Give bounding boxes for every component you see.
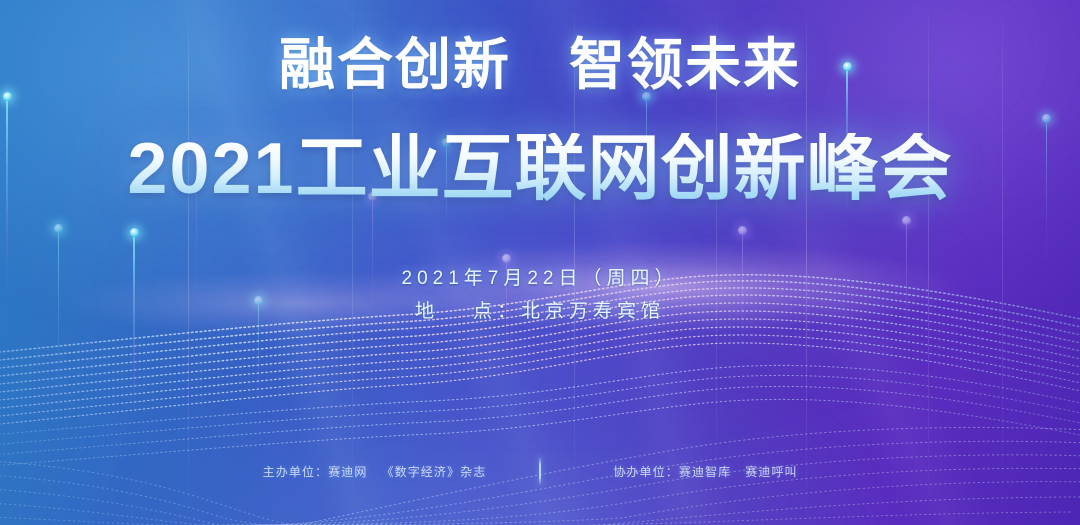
tagline: 融合创新智领未来 bbox=[0, 36, 1080, 96]
venue-label-first: 地 bbox=[415, 301, 439, 322]
organizer-first: 赛迪网 bbox=[328, 465, 367, 479]
cohost-credit: 协办单位：赛迪智库赛迪呼叫 bbox=[563, 463, 848, 480]
page-title: 2021工业互联网创新峰会 bbox=[0, 133, 1080, 205]
tagline-left: 融合创新 bbox=[279, 35, 511, 97]
title-main: 工业互联网创新峰会 bbox=[296, 129, 953, 209]
event-date: 2021年7月22日（周四） bbox=[0, 262, 1080, 295]
footer-credits: 主办单位：赛迪网《数字经济》杂志 协办单位：赛迪智库赛迪呼叫 bbox=[0, 456, 1080, 486]
event-info: 2021年7月22日（周四） 地点：北京万寿宾馆 bbox=[0, 262, 1080, 329]
organizer-label: 主办单位： bbox=[263, 465, 329, 479]
tagline-right: 智领未来 bbox=[569, 35, 801, 97]
event-banner: 融合创新智领未来 2021工业互联网创新峰会 2021年7月22日（周四） 地点… bbox=[0, 0, 1080, 525]
organizer-credit: 主办单位：赛迪网《数字经济》杂志 bbox=[232, 463, 517, 480]
cohost-first: 赛迪智库 bbox=[679, 465, 731, 479]
event-venue: 地点：北京万寿宾馆 bbox=[0, 295, 1080, 328]
venue-value: 北京万寿宾馆 bbox=[521, 301, 665, 322]
cohost-label: 协办单位： bbox=[613, 465, 679, 479]
credit-divider bbox=[539, 456, 541, 486]
organizer-second: 《数字经济》杂志 bbox=[382, 465, 487, 479]
title-year: 2021 bbox=[127, 129, 295, 209]
venue-label-second: 点： bbox=[473, 301, 521, 322]
cohost-second: 赛迪呼叫 bbox=[745, 465, 797, 479]
banner-content: 融合创新智领未来 2021工业互联网创新峰会 2021年7月22日（周四） 地点… bbox=[0, 0, 1080, 525]
